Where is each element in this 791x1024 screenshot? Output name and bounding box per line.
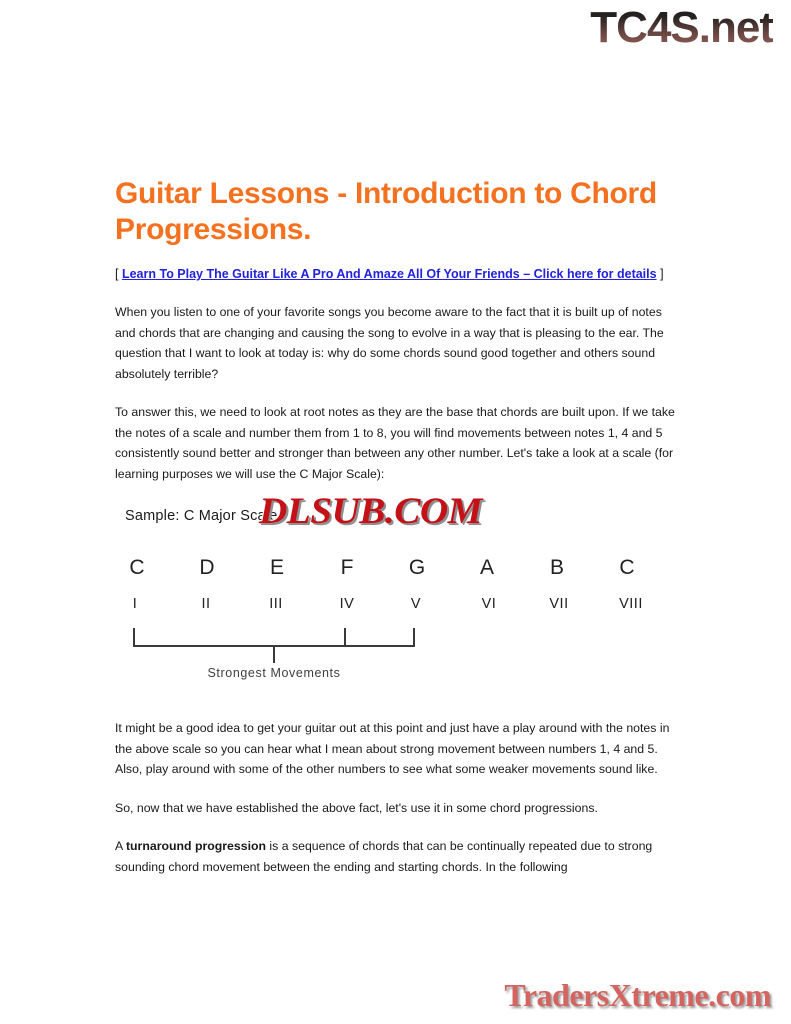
scale-note: F xyxy=(327,556,367,580)
promo-link-line: [ Learn To Play The Guitar Like A Pro An… xyxy=(115,266,681,282)
scale-note: G xyxy=(397,556,437,580)
promo-close-bracket: ] xyxy=(660,267,663,281)
bracket-tick-v xyxy=(413,628,415,646)
scale-note-row: C D E F G A B C xyxy=(115,556,681,584)
scale-numeral: II xyxy=(184,596,228,612)
article-body: Guitar Lessons - Introduction to Chord P… xyxy=(115,176,681,895)
paragraph-established: So, now that we have established the abo… xyxy=(115,798,681,819)
scale-numeral: VI xyxy=(467,596,511,612)
scale-numeral: I xyxy=(113,596,157,612)
scale-numeral: VII xyxy=(537,596,581,612)
paragraph-intro: When you listen to one of your favorite … xyxy=(115,302,681,384)
scale-note: E xyxy=(257,556,297,580)
scale-note: B xyxy=(537,556,577,580)
scale-note: A xyxy=(467,556,507,580)
promo-open-bracket: [ xyxy=(115,267,118,281)
scale-note: C xyxy=(117,556,157,580)
scale-numeral: V xyxy=(394,596,438,612)
promo-link[interactable]: Learn To Play The Guitar Like A Pro And … xyxy=(122,267,657,281)
site-logo-header: TC4S.net xyxy=(590,2,773,54)
paragraph-turnaround: A turnaround progression is a sequence o… xyxy=(115,836,681,877)
bracket-label: Strongest Movements xyxy=(174,666,374,680)
scale-numeral: IV xyxy=(325,596,369,612)
figure-caption: Sample: C Major Scale xyxy=(125,508,277,524)
paragraph-root-notes: To answer this, we need to look at root … xyxy=(115,402,681,484)
bracket-tick-iv xyxy=(344,628,346,646)
scale-numeral: III xyxy=(254,596,298,612)
bracket-tick-i xyxy=(133,628,135,646)
bracket-stem xyxy=(273,646,275,663)
scale-note: C xyxy=(607,556,647,580)
paragraph-practice: It might be a good idea to get your guit… xyxy=(115,718,681,780)
turnaround-term: turnaround progression xyxy=(126,839,266,853)
scale-numeral-row: I II III IV V VI VII VIII xyxy=(115,596,681,624)
turnaround-lead: A xyxy=(115,839,126,853)
scale-numeral: VIII xyxy=(609,596,653,612)
page-title: Guitar Lessons - Introduction to Chord P… xyxy=(115,176,681,248)
scale-note: D xyxy=(187,556,227,580)
tradersxtreme-footer-logo: TradersXtreme.com xyxy=(504,976,771,1014)
c-major-scale-figure: Sample: C Major Scale C D E F G A B C I … xyxy=(115,502,681,698)
